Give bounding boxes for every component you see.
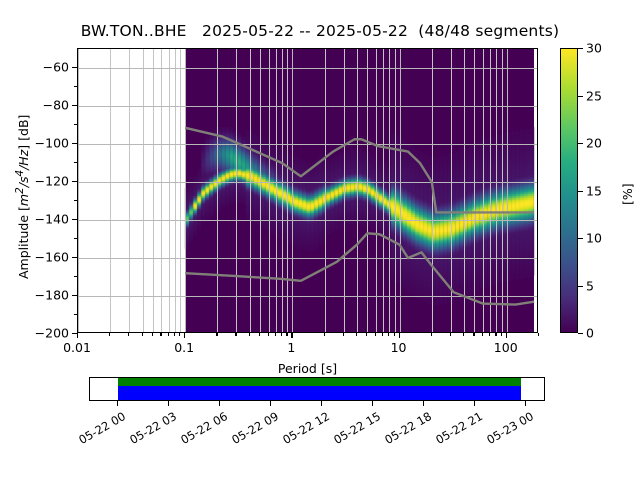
x-tick (142, 333, 143, 336)
x-tick (399, 333, 400, 338)
gridline-vertical (432, 49, 433, 332)
data-coverage-green (118, 378, 521, 386)
x-tick (489, 333, 490, 336)
ppsd-density-heatmap (78, 49, 538, 333)
x-tick (501, 333, 502, 336)
colorbar-tick-label: 5 (586, 278, 594, 293)
x-tick-label: 100 (494, 340, 518, 355)
gridline-vertical (395, 49, 396, 332)
y-tick-label: −100 (35, 136, 69, 151)
y-tick-minor (74, 86, 77, 87)
timeline-tick (423, 401, 424, 406)
x-tick (259, 333, 260, 336)
gridline-horizontal (78, 296, 537, 297)
y-tick-label: −120 (35, 174, 69, 189)
timeline-tick-label: 05-22 12 (271, 409, 332, 452)
gridline-vertical (464, 49, 465, 332)
x-tick (268, 333, 269, 336)
data-coverage-blue (118, 386, 521, 400)
gridline-vertical (250, 49, 251, 332)
y-tick-minor (74, 200, 77, 201)
gridline-vertical (110, 49, 111, 332)
gridline-vertical (357, 49, 358, 332)
y-tick (72, 219, 77, 220)
x-tick (249, 333, 250, 336)
y-tick-label: −160 (35, 250, 69, 265)
x-tick (291, 333, 292, 338)
gridline-vertical (474, 49, 475, 332)
x-tick (538, 333, 539, 336)
x-tick (394, 333, 395, 336)
timeline-tick-label: 05-22 00 (67, 409, 128, 452)
timeline-tick-label: 05-23 00 (475, 409, 536, 452)
colorbar-tick (578, 96, 583, 97)
x-tick (174, 333, 175, 336)
x-tick (281, 333, 282, 336)
timeline-tick-label: 05-22 21 (424, 409, 485, 452)
colorbar-tick-label: 25 (586, 88, 602, 103)
x-tick (506, 333, 507, 338)
ppsd-figure: BW.TON..BHE 2025-05-22 -- 2025-05-22 (48… (0, 0, 640, 480)
gridline-vertical (287, 49, 288, 332)
x-tick (216, 333, 217, 336)
y-tick (72, 295, 77, 296)
gridline-vertical (161, 49, 162, 332)
x-tick (343, 333, 344, 336)
colorbar-tick (578, 286, 583, 287)
x-tick (160, 333, 161, 336)
colorbar-tick (578, 48, 583, 49)
x-tick (431, 333, 432, 336)
x-tick (366, 333, 367, 336)
gridline-vertical (367, 49, 368, 332)
colorbar-tick-label: 20 (586, 136, 602, 151)
timeline-tick-label: 05-22 06 (169, 409, 230, 452)
gridline-vertical (400, 49, 401, 332)
y-tick-label: −180 (35, 288, 69, 303)
colorbar-tick-label: 15 (586, 183, 602, 198)
colorbar-tick-label: 0 (586, 326, 594, 341)
gridline-vertical (180, 49, 181, 332)
colorbar-tick (578, 191, 583, 192)
y-tick (72, 67, 77, 68)
x-tick (356, 333, 357, 336)
x-tick (382, 333, 383, 336)
x-tick (77, 333, 78, 338)
x-tick (482, 333, 483, 336)
x-tick-label: 0.1 (174, 340, 194, 355)
gridline-vertical (169, 49, 170, 332)
x-tick (375, 333, 376, 336)
x-tick-label: 0.01 (63, 340, 91, 355)
timeline-tick (270, 401, 271, 406)
gridline-horizontal (78, 106, 537, 107)
timeline-tick-label: 05-22 09 (220, 409, 281, 452)
gridline-horizontal (78, 144, 537, 145)
timeline-tick-label: 05-22 15 (322, 409, 383, 452)
ppsd-plot-area[interactable] (77, 48, 538, 333)
x-tick (286, 333, 287, 336)
gridline-vertical (153, 49, 154, 332)
y-tick-minor (74, 314, 77, 315)
timeline-tick (168, 401, 169, 406)
gridline-vertical (185, 49, 186, 332)
gridline-vertical (376, 49, 377, 332)
colorbar-tick (578, 333, 583, 334)
gridline-vertical (389, 49, 390, 332)
gridline-vertical (217, 49, 218, 332)
gridline-vertical (490, 49, 491, 332)
gridline-vertical (276, 49, 277, 332)
gridline-horizontal (78, 220, 537, 221)
gridline-vertical (292, 49, 293, 332)
gridline-vertical (383, 49, 384, 332)
gridline-horizontal (78, 182, 537, 183)
colorbar-tick (578, 238, 583, 239)
gridline-vertical (78, 49, 79, 332)
page-title: BW.TON..BHE 2025-05-22 -- 2025-05-22 (48… (0, 22, 640, 40)
x-tick (388, 333, 389, 336)
colorbar[interactable] (560, 48, 578, 333)
gridline-vertical (269, 49, 270, 332)
x-tick (324, 333, 325, 336)
y-tick (72, 143, 77, 144)
timeline-tick-label: 05-22 18 (373, 409, 434, 452)
gridline-vertical (344, 49, 345, 332)
x-tick (463, 333, 464, 336)
timeline-tick (117, 401, 118, 406)
x-axis-label: Period [s] (228, 361, 388, 376)
gridline-vertical (325, 49, 326, 332)
y-tick-minor (74, 238, 77, 239)
data-coverage-timeline[interactable] (89, 377, 545, 401)
colorbar-tick (578, 143, 583, 144)
timeline-tick (474, 401, 475, 406)
x-tick (128, 333, 129, 336)
y-tick-minor (74, 124, 77, 125)
gridline-vertical (143, 49, 144, 332)
colorbar-tick-label: 10 (586, 231, 602, 246)
y-tick-label: −80 (43, 98, 69, 113)
y-tick-label: −60 (43, 60, 69, 75)
x-tick (275, 333, 276, 336)
timeline-tick (219, 401, 220, 406)
y-tick-label: −140 (35, 212, 69, 227)
x-tick (495, 333, 496, 336)
x-tick-label: 1 (287, 340, 295, 355)
y-tick-label: −200 (35, 326, 69, 341)
x-tick (184, 333, 185, 338)
gridline-horizontal (78, 258, 537, 259)
x-tick (473, 333, 474, 336)
x-tick (168, 333, 169, 336)
x-tick (450, 333, 451, 336)
colorbar-tick-label: 30 (586, 41, 602, 56)
gridline-vertical (496, 49, 497, 332)
timeline-tick-label: 05-22 03 (118, 409, 179, 452)
x-tick (235, 333, 236, 336)
y-axis-label: Amplitude [m2/s4/Hz] [dB] (14, 114, 31, 278)
gridline-vertical (129, 49, 130, 332)
x-tick (152, 333, 153, 336)
gridline-vertical (451, 49, 452, 332)
y-tick (72, 257, 77, 258)
x-tick (109, 333, 110, 336)
gridline-vertical (282, 49, 283, 332)
y-tick (72, 181, 77, 182)
y-tick-minor (74, 162, 77, 163)
x-tick-label: 10 (391, 340, 407, 355)
x-tick (179, 333, 180, 336)
gridline-vertical (236, 49, 237, 332)
y-tick-minor (74, 276, 77, 277)
gridline-vertical (175, 49, 176, 332)
gridline-vertical (502, 49, 503, 332)
colorbar-label: [%] (620, 183, 635, 205)
timeline-tick (321, 401, 322, 406)
gridline-vertical (260, 49, 261, 332)
timeline-tick (525, 401, 526, 406)
gridline-vertical (483, 49, 484, 332)
timeline-tick (372, 401, 373, 406)
gridline-horizontal (78, 68, 537, 69)
gridline-vertical (507, 49, 508, 332)
y-tick (72, 105, 77, 106)
